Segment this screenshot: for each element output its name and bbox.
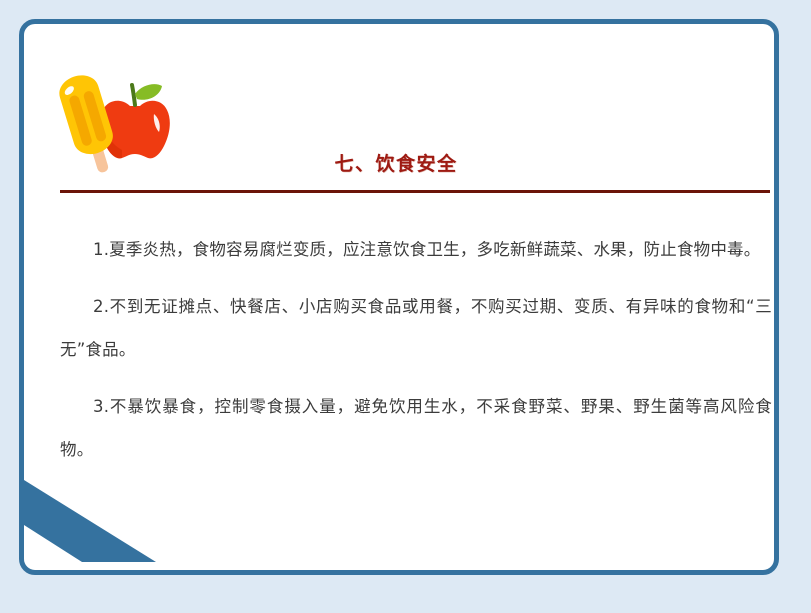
section-heading: 七、饮食安全: [24, 149, 774, 176]
corner-triangle-ornament: [24, 480, 174, 570]
paragraph-3: 3.不暴饮暴食，控制零食摄入量，避免饮用生水，不采食野菜、野果、野生菌等高风险食…: [60, 385, 772, 471]
page-title: 七、饮食安全: [334, 149, 457, 176]
paragraph-2: 2.不到无证摊点、快餐店、小店购买食品或用餐，不购买过期、变质、有异味的食物和“…: [60, 285, 772, 371]
paragraph-1: 1.夏季炎热，食物容易腐烂变质，应注意饮食卫生，多吃新鲜蔬菜、水果，防止食物中毒…: [60, 228, 772, 271]
page-root: 七、饮食安全 1.夏季炎热，食物容易腐烂变质，应注意饮食卫生，多吃新鲜蔬菜、水果…: [0, 0, 811, 613]
heading-divider: [60, 190, 770, 193]
apple-icon: [100, 84, 170, 158]
content-card: 七、饮食安全 1.夏季炎热，食物容易腐烂变质，应注意饮食卫生，多吃新鲜蔬菜、水果…: [19, 19, 779, 575]
body-content: 1.夏季炎热，食物容易腐烂变质，应注意饮食卫生，多吃新鲜蔬菜、水果，防止食物中毒…: [60, 228, 772, 471]
